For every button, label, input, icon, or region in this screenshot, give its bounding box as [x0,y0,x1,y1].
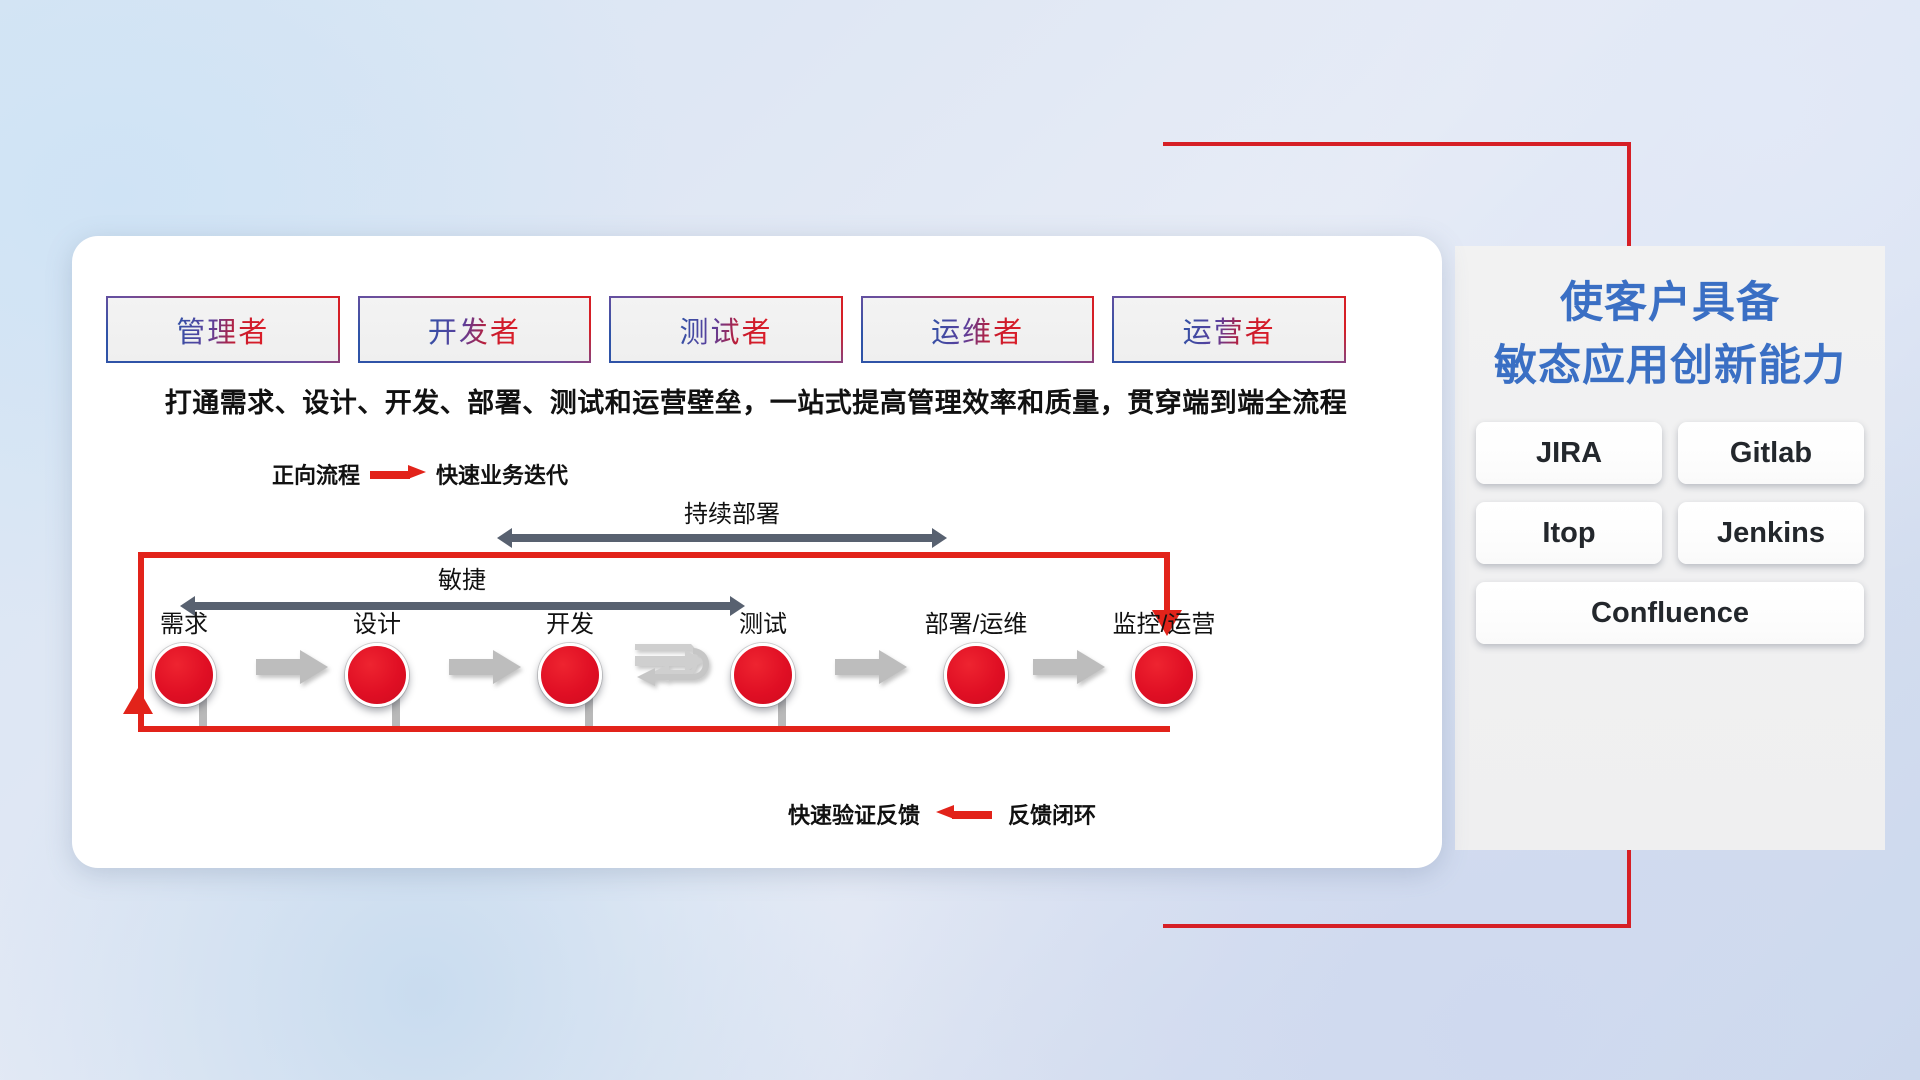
flow-arrow-icon-1 [256,650,328,684]
tool-badge-jira[interactable]: JIRA [1476,422,1662,484]
role-box-business[interactable]: 运营者 [1114,298,1344,361]
flow-arrow-icon-2 [449,650,521,684]
tool-badge-confluence[interactable]: Confluence [1476,582,1864,644]
legend-feedback-right-label: 反馈闭环 [1008,798,1096,830]
legend-feedback-left-label: 快速验证反馈 [788,798,920,830]
tool-badge-gitlab[interactable]: Gitlab [1678,422,1864,484]
tool-badge-grid: JIRA Gitlab Itop Jenkins Confluence [1467,422,1873,644]
stage-dot-develop [538,643,602,707]
tool-badge-itop[interactable]: Itop [1476,502,1662,564]
span-arrow-continuous-deploy [497,528,947,548]
main-card: 管理者 开发者 测试者 运维者 运营者 打通需求、设计、开发、部署、测试和运营壁… [72,236,1442,868]
legend-forward-flow: 正向流程 快速业务迭代 [272,458,568,490]
stage-dot-requirements [152,643,216,707]
legend-forward-right-label: 快速业务迭代 [436,458,568,490]
stage-develop[interactable]: 开发 [515,604,625,707]
stage-dot-design [345,643,409,707]
stage-dot-monitor-operate [1132,643,1196,707]
role-label-operations: 运维者 [931,309,1024,351]
stage-label-develop: 开发 [515,604,625,639]
stage-label-test: 测试 [708,604,818,639]
right-panel-title: 使客户具备 敏态应用创新能力 [1455,272,1885,398]
right-panel: 使客户具备 敏态应用创新能力 JIRA Gitlab Itop Jenkins … [1455,246,1885,850]
role-box-row: 管理者 开发者 测试者 运维者 运营者 [108,298,1344,361]
stage-monitor-operate[interactable]: 监控/运营 [1084,604,1244,707]
right-panel-title-line1: 使客户具备 [1455,272,1885,334]
role-box-tester[interactable]: 测试者 [611,298,841,361]
stage-dot-test [731,643,795,707]
legend-feedback-loop: 快速验证反馈 反馈闭环 [788,798,1096,830]
role-label-manager: 管理者 [176,309,269,351]
stage-label-deploy-ops: 部署/运维 [901,604,1051,639]
red-arrow-left-icon [936,808,992,820]
stage-deploy-ops[interactable]: 部署/运维 [901,604,1051,707]
role-label-tester: 测试者 [679,309,772,351]
role-box-developer[interactable]: 开发者 [360,298,590,361]
stage-row: 需求 设计 开发 测试 部署/运维 监控/运营 [108,604,1338,724]
stage-label-design: 设计 [322,604,432,639]
flow-arrow-icon-3 [835,650,907,684]
role-label-developer: 开发者 [428,309,521,351]
stage-label-requirements: 需求 [129,604,239,639]
red-arrow-right-icon [370,468,426,480]
right-panel-title-line2: 敏态应用创新能力 [1455,334,1885,398]
card-description: 打通需求、设计、开发、部署、测试和运营壁垒，一站式提高管理效率和质量，贯穿端到端… [106,381,1406,420]
legend-forward-left-label: 正向流程 [272,458,360,490]
role-label-business: 运营者 [1183,309,1276,351]
flow-arrow-icon-4 [1033,650,1105,684]
tool-badge-jenkins[interactable]: Jenkins [1678,502,1864,564]
span-label-continuous-deploy: 持续部署 [684,494,780,529]
stage-dot-deploy-ops [944,643,1008,707]
cycle-arrow-icon [633,640,725,696]
stage-design[interactable]: 设计 [322,604,432,707]
stage-requirements[interactable]: 需求 [129,604,239,707]
stage-label-monitor-operate: 监控/运营 [1084,604,1244,639]
role-box-manager[interactable]: 管理者 [108,298,338,361]
role-box-operations[interactable]: 运维者 [863,298,1093,361]
